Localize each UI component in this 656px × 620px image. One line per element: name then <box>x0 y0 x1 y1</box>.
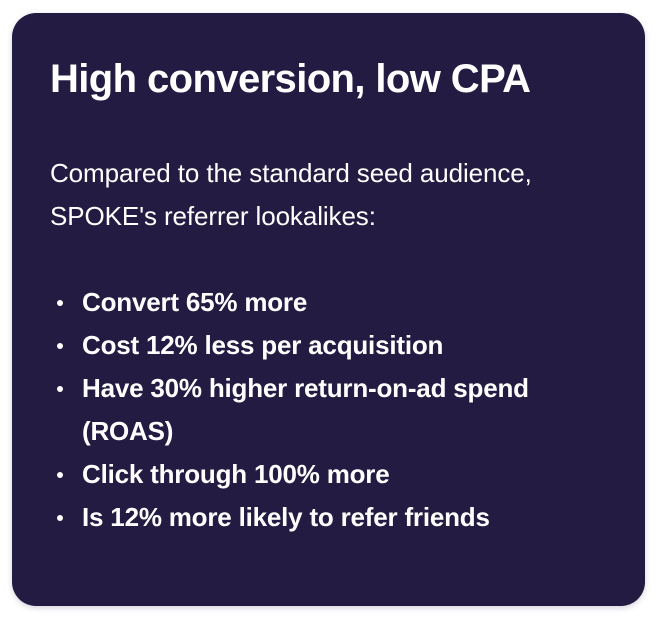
list-item: Cost 12% less per acquisition <box>50 324 610 367</box>
bullet-dot-icon <box>57 472 63 478</box>
page-root: High conversion, low CPA Compared to the… <box>0 0 656 620</box>
bullet-dot-icon <box>57 300 63 306</box>
list-item: Is 12% more likely to refer friends <box>50 496 610 539</box>
list-item: Convert 65% more <box>50 281 610 324</box>
stat-highlight-card: High conversion, low CPA Compared to the… <box>12 13 645 606</box>
list-item-label: Convert 65% more <box>82 281 610 324</box>
benefits-list: Convert 65% more Cost 12% less per acqui… <box>50 281 610 539</box>
list-item-label: Is 12% more likely to refer friends <box>82 496 610 539</box>
list-item: Have 30% higher return-on-ad spend (ROAS… <box>50 367 610 453</box>
list-item-label: Have 30% higher return-on-ad spend (ROAS… <box>82 367 610 453</box>
list-item-label: Click through 100% more <box>82 453 610 496</box>
bullet-dot-icon <box>57 343 63 349</box>
bullet-dot-icon <box>57 515 63 521</box>
list-item: Click through 100% more <box>50 453 610 496</box>
list-item-label: Cost 12% less per acquisition <box>82 324 610 367</box>
bullet-dot-icon <box>57 386 63 392</box>
card-title: High conversion, low CPA <box>50 55 530 103</box>
card-description: Compared to the standard seed audience, … <box>50 152 560 238</box>
